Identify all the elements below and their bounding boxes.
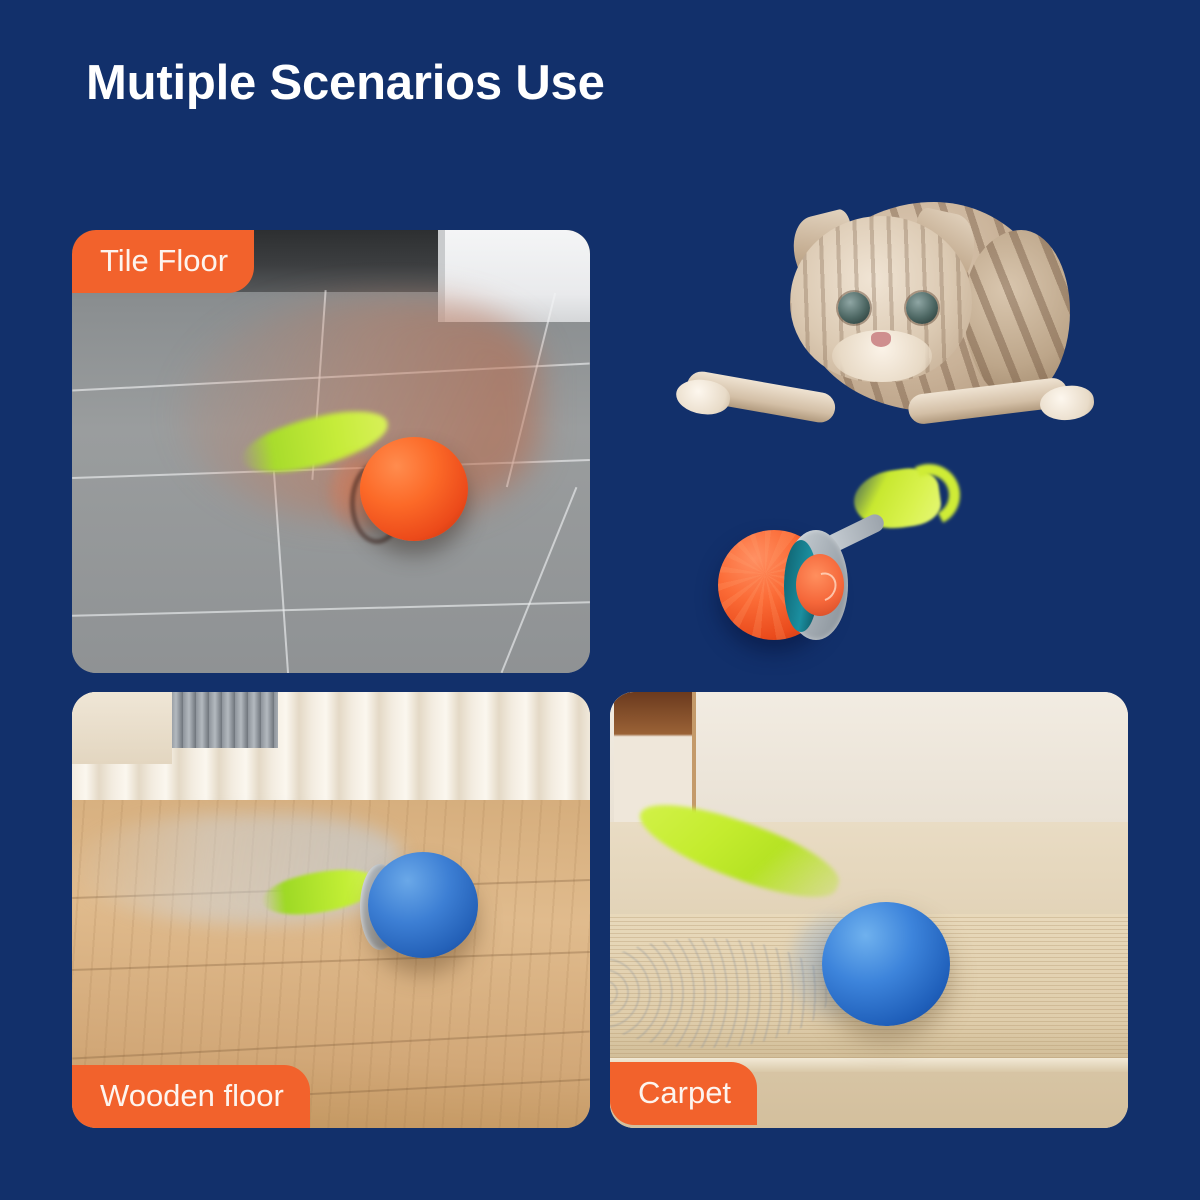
badge-wooden-floor: Wooden floor [72,1065,310,1128]
radiator [170,692,278,748]
wall-corner [72,692,172,764]
kitten-haunch [964,230,1070,400]
kitten-left-eye [838,292,870,324]
page-title: Mutiple Scenarios Use [86,55,605,111]
hero-product-toy-ball [712,470,932,645]
kitten-nose [871,332,891,347]
carpet-toy-ball [822,902,950,1026]
tile-floor-photo [72,230,590,673]
product-poster: Mutiple Scenarios Use Tile Floor [0,0,1200,1200]
scenario-panel-wooden: Wooden floor [72,692,590,1128]
kitten-photo [672,172,1108,472]
badge-tile-floor: Tile Floor [72,230,254,293]
scenario-panel-tile: Tile Floor [72,230,590,673]
badge-carpet: Carpet [610,1062,757,1125]
wooden-toy-ball [368,852,478,958]
kitten-right-eye [906,292,938,324]
tile-toy-ball [360,437,468,541]
wooden-floor-photo [72,692,590,1128]
